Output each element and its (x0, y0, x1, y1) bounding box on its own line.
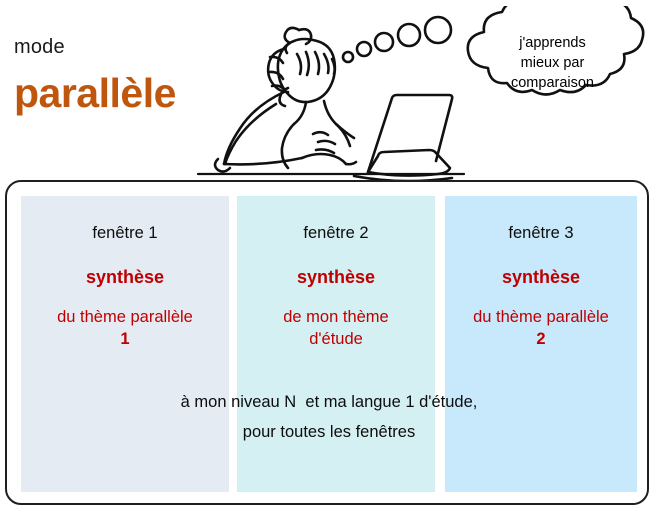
window-2-heading: synthèse (237, 266, 435, 289)
window-2-title: fenêtre 2 (237, 222, 435, 244)
parallel-mode-panel: fenêtre 1 synthèse du thème parallèle 1 … (5, 180, 649, 505)
window-column-3[interactable]: fenêtre 3 synthèse du thème parallèle 2 (445, 196, 637, 492)
mode-label: mode (14, 36, 65, 59)
thought-bubble-text: j'apprends mieux par comparaison (470, 33, 635, 93)
window-3-heading: synthèse (445, 266, 637, 289)
bubble-line-3: comparaison (470, 73, 635, 93)
bubble-line-1: j'apprends (470, 33, 635, 53)
window-1-subtitle-text: du thème parallèle (57, 308, 193, 326)
student-at-laptop-illustration (196, 2, 466, 180)
window-column-1[interactable]: fenêtre 1 synthèse du thème parallèle 1 (21, 196, 229, 492)
window-3-title: fenêtre 3 (445, 222, 637, 244)
window-2-subtitle-text: de mon thème (283, 308, 388, 326)
window-3-subtitle-emphasis: 2 (536, 330, 545, 348)
window-3-subtitle: du thème parallèle 2 (445, 306, 637, 350)
window-column-1-content: fenêtre 1 synthèse du thème parallèle 1 (21, 222, 229, 350)
window-1-heading: synthèse (21, 266, 229, 289)
windows-columns: fenêtre 1 synthèse du thème parallèle 1 … (7, 182, 651, 507)
window-column-2-content: fenêtre 2 synthèse de mon thème d'étude (237, 222, 435, 350)
window-3-subtitle-text: du thème parallèle (473, 308, 609, 326)
window-2-subtitle-emphasis: d'étude (309, 330, 363, 348)
window-column-2[interactable]: fenêtre 2 synthèse de mon thème d'étude (237, 196, 435, 492)
window-1-title: fenêtre 1 (21, 222, 229, 244)
header-area: mode parallèle (0, 0, 657, 180)
window-2-subtitle: de mon thème d'étude (237, 306, 435, 350)
window-1-subtitle-emphasis: 1 (120, 330, 129, 348)
window-column-3-content: fenêtre 3 synthèse du thème parallèle 2 (445, 222, 637, 350)
mode-title: parallèle (14, 70, 176, 117)
window-1-subtitle: du thème parallèle 1 (21, 306, 229, 350)
bubble-line-2: mieux par (470, 53, 635, 73)
